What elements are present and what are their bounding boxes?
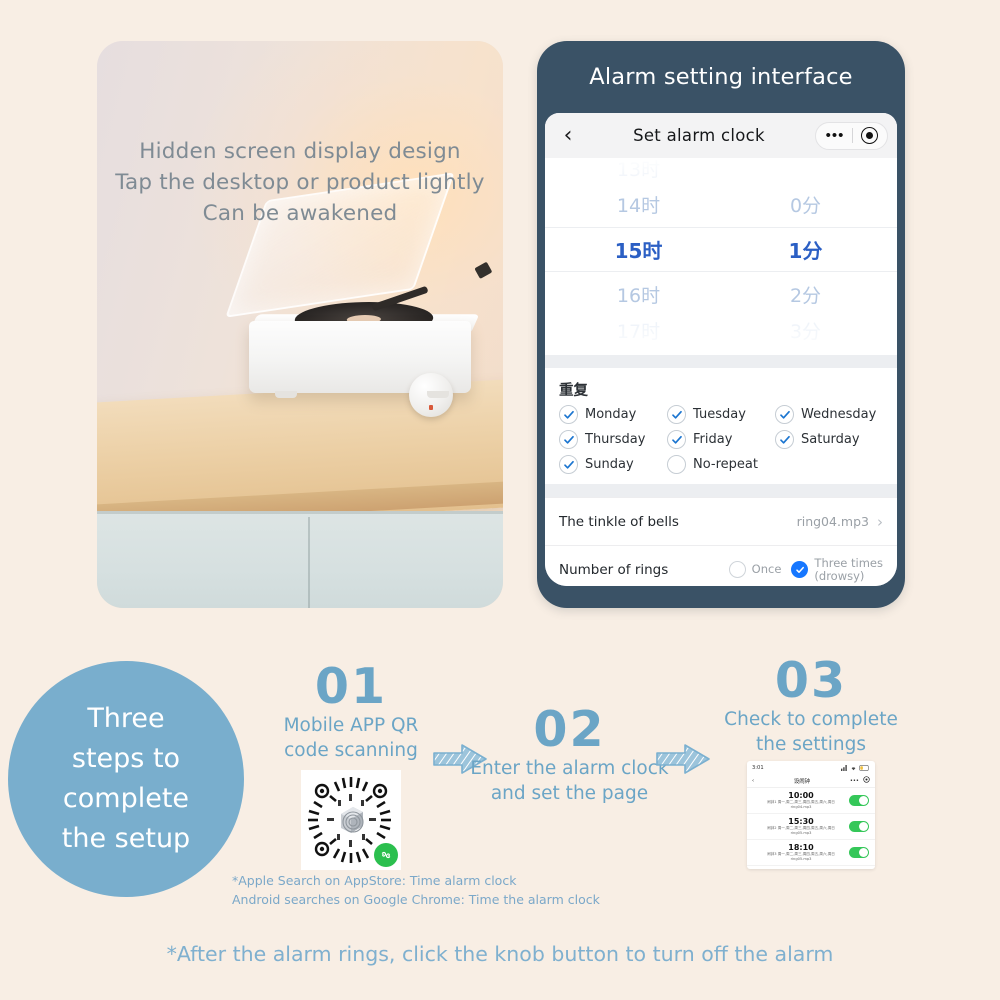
picker-row[interactable]: 14时 0分 bbox=[545, 182, 897, 227]
picker-selection-line-top bbox=[545, 227, 897, 228]
step-03-text: Check to complete the settings bbox=[700, 707, 922, 757]
picker-minute: 3分 bbox=[722, 317, 897, 344]
repeat-day-label: Saturday bbox=[801, 432, 860, 447]
picker-hour: 13时 bbox=[545, 158, 722, 182]
phone-mockup: Alarm setting interface ‹ Set alarm cloc… bbox=[537, 41, 905, 608]
mini-alarm-toggle[interactable] bbox=[849, 795, 869, 806]
repeat-title: 重复 bbox=[559, 379, 883, 400]
step-03-line-1: Check to complete bbox=[700, 707, 922, 732]
repeat-day-label: Thursday bbox=[585, 432, 645, 447]
step-02-number: 02 bbox=[462, 706, 677, 754]
qr-code[interactable] bbox=[301, 770, 401, 870]
turntable-foot-right bbox=[427, 391, 449, 398]
repeat-day-sunday[interactable]: Sunday bbox=[559, 455, 667, 474]
mini-alarm-row[interactable]: 10:00 闹钟1 周一,周二,周三,周四,周五,周六,周日 ring04.mp… bbox=[747, 788, 875, 814]
repeat-day-label: Friday bbox=[693, 432, 732, 447]
rings-option-once[interactable]: Once bbox=[729, 561, 782, 578]
checkbox-checked-icon[interactable] bbox=[667, 405, 686, 424]
radio-checked-icon[interactable] bbox=[791, 561, 808, 578]
note-line-android: Android searches on Google Chrome: Time … bbox=[232, 890, 792, 909]
wifi-icon bbox=[850, 765, 857, 771]
rings-option-label: Once bbox=[752, 563, 782, 576]
photo-caption-line-1: Hidden screen display design bbox=[97, 136, 503, 167]
wechat-miniprogram-icon bbox=[374, 843, 398, 867]
mini-more-icon[interactable]: ••• bbox=[850, 778, 859, 784]
repeat-day-thursday[interactable]: Thursday bbox=[559, 430, 667, 449]
circle-line-2: steps to bbox=[62, 739, 190, 779]
checkbox-checked-icon[interactable] bbox=[559, 430, 578, 449]
picker-hour: 16时 bbox=[545, 281, 722, 308]
battery-icon bbox=[859, 765, 870, 771]
repeat-day-no-repeat[interactable]: No-repeat bbox=[667, 455, 775, 474]
repeat-day-label: Tuesday bbox=[693, 407, 746, 422]
phone-screen: ‹ Set alarm clock ••• 13时 14时 bbox=[545, 113, 897, 586]
step-01-text: Mobile APP QR code scanning bbox=[246, 713, 456, 763]
mini-alarm-time: 18:10 bbox=[753, 843, 849, 852]
store-search-notes: *Apple Search on AppStore: Time alarm cl… bbox=[232, 871, 792, 909]
picker-row[interactable]: 13时 bbox=[545, 158, 897, 182]
mini-phone-screenshot: 3:01 ‹ 设闹钟 ••• 10:00 闹钟1 周一,周二,周三,周四,周 bbox=[747, 761, 875, 869]
checkbox-checked-icon[interactable] bbox=[775, 405, 794, 424]
mini-status-icons bbox=[841, 765, 870, 771]
number-of-rings-label: Number of rings bbox=[559, 562, 729, 578]
three-steps-circle-text: Three steps to complete the setup bbox=[62, 699, 190, 859]
repeat-day-wednesday[interactable]: Wednesday bbox=[775, 405, 883, 424]
section-divider bbox=[545, 484, 897, 497]
picker-row[interactable]: 17时 3分 bbox=[545, 317, 897, 339]
knob-indicator-dot bbox=[429, 405, 433, 410]
checkbox-checked-icon[interactable] bbox=[559, 405, 578, 424]
mini-alarm-row[interactable]: 18:10 闹钟3 周一,周二,周三,周四,周五,周六,周日 ring05.mp… bbox=[747, 840, 875, 866]
repeat-section: 重复 Monday Tuesday bbox=[545, 368, 897, 484]
mini-alarm-sub2: ring05.mp3 bbox=[753, 857, 849, 862]
rings-option-sublabel: (drowsy) bbox=[814, 569, 864, 583]
circle-line-3: complete bbox=[62, 779, 190, 819]
ringtone-label: The tinkle of bells bbox=[559, 514, 797, 530]
product-photo-card: Hidden screen display design Tap the des… bbox=[97, 41, 503, 608]
footer-note: *After the alarm rings, click the knob b… bbox=[0, 942, 1000, 966]
more-icon[interactable]: ••• bbox=[818, 127, 852, 144]
mini-alarm-row[interactable]: 15:30 闹钟2 周一,周二,周三,周四,周五,周六,周日 ring05.mp… bbox=[747, 814, 875, 840]
picker-hour-selected: 15时 bbox=[545, 235, 722, 264]
checkbox-checked-icon[interactable] bbox=[775, 430, 794, 449]
turntable-body bbox=[249, 321, 471, 393]
mini-alarm-info: 15:30 闹钟2 周一,周二,周三,周四,周五,周六,周日 ring05.mp… bbox=[753, 817, 849, 836]
page-root: Hidden screen display design Tap the des… bbox=[0, 0, 1000, 1000]
mini-alarm-time: 10:00 bbox=[753, 791, 849, 800]
time-picker[interactable]: 13时 14时 0分 15时 1分 16时 2分 bbox=[545, 158, 897, 355]
mini-alarm-info: 18:10 闹钟3 周一,周二,周三,周四,周五,周六,周日 ring05.mp… bbox=[753, 843, 849, 862]
signal-icon bbox=[841, 765, 848, 771]
step-01-number: 01 bbox=[246, 663, 456, 711]
repeat-day-tuesday[interactable]: Tuesday bbox=[667, 405, 775, 424]
repeat-day-saturday[interactable]: Saturday bbox=[775, 430, 883, 449]
mini-target-icon[interactable] bbox=[863, 776, 870, 785]
picker-row-selected[interactable]: 15时 1分 bbox=[545, 227, 897, 272]
mini-alarm-info: 10:00 闹钟1 周一,周二,周三,周四,周五,周六,周日 ring04.mp… bbox=[753, 791, 849, 810]
mini-alarm-sub2: ring04.mp3 bbox=[753, 805, 849, 810]
note-line-apple: *Apple Search on AppStore: Time alarm cl… bbox=[232, 871, 792, 890]
target-icon[interactable] bbox=[853, 127, 885, 144]
step-01-line-1: Mobile APP QR bbox=[246, 713, 456, 738]
step-01: 01 Mobile APP QR code scanning bbox=[246, 663, 456, 870]
mini-alarm-toggle[interactable] bbox=[849, 821, 869, 832]
mini-navbar: ‹ 设闹钟 ••• bbox=[747, 774, 875, 788]
rings-option-label-wrap: Three times (drowsy) bbox=[814, 557, 883, 583]
photo-caption: Hidden screen display design Tap the des… bbox=[97, 136, 503, 229]
repeat-day-friday[interactable]: Friday bbox=[667, 430, 775, 449]
step-02-line-2: and set the page bbox=[462, 781, 677, 806]
turntable-product bbox=[249, 291, 479, 441]
app-navbar: ‹ Set alarm clock ••• bbox=[545, 113, 897, 158]
step-03: 03 Check to complete the settings 3:01 ‹… bbox=[700, 657, 922, 869]
picker-minute: 0分 bbox=[722, 191, 897, 218]
navbar-capsule: ••• bbox=[815, 122, 888, 150]
number-of-rings-options: Once Three times (drowsy) bbox=[729, 557, 883, 583]
repeat-day-grid: Monday Tuesday Wednesday bbox=[559, 405, 883, 474]
rings-option-three-times[interactable]: Three times (drowsy) bbox=[791, 557, 883, 583]
step-03-number: 03 bbox=[700, 657, 922, 705]
repeat-day-label: Monday bbox=[585, 407, 636, 422]
step-02-line-1: Enter the alarm clock bbox=[462, 756, 677, 781]
step-02-text: Enter the alarm clock and set the page bbox=[462, 756, 677, 806]
picker-selection-line-bottom bbox=[545, 271, 897, 272]
mini-alarm-toggle[interactable] bbox=[849, 847, 869, 858]
turntable-foot-left bbox=[275, 391, 297, 398]
step-03-line-2: the settings bbox=[700, 732, 922, 757]
mini-alarm-time: 15:30 bbox=[753, 817, 849, 826]
number-of-rings-row[interactable]: Number of rings Once Three times (drowsy… bbox=[545, 545, 897, 586]
circle-line-4: the setup bbox=[62, 819, 190, 859]
photo-caption-line-3: Can be awakened bbox=[97, 198, 503, 229]
radio-unchecked-icon[interactable] bbox=[729, 561, 746, 578]
repeat-day-label: Wednesday bbox=[801, 407, 876, 422]
checkbox-checked-icon[interactable] bbox=[667, 430, 686, 449]
picker-row[interactable]: 16时 2分 bbox=[545, 272, 897, 317]
step-01-line-2: code scanning bbox=[246, 738, 456, 763]
step-02: 02 Enter the alarm clock and set the pag… bbox=[462, 706, 677, 806]
ringtone-value: ring04.mp3 bbox=[797, 514, 869, 529]
rings-option-label: Three times bbox=[814, 556, 883, 570]
photo-caption-line-2: Tap the desktop or product lightly bbox=[97, 167, 503, 198]
ringtone-row[interactable]: The tinkle of bells ring04.mp3 › bbox=[545, 497, 897, 545]
picker-minute: 2分 bbox=[722, 281, 897, 308]
three-steps-circle: Three steps to complete the setup bbox=[8, 661, 244, 897]
circle-line-1: Three bbox=[62, 699, 190, 739]
mini-status-bar: 3:01 bbox=[747, 761, 875, 774]
repeat-day-monday[interactable]: Monday bbox=[559, 405, 667, 424]
checkbox-checked-icon[interactable] bbox=[559, 455, 578, 474]
repeat-day-label: No-repeat bbox=[693, 457, 758, 472]
mini-nav-title: 设闹钟 bbox=[754, 777, 850, 785]
picker-hour: 17时 bbox=[545, 317, 722, 344]
picker-minute-selected: 1分 bbox=[722, 235, 897, 264]
picker-hour: 14时 bbox=[545, 191, 722, 218]
photo-cabinet bbox=[97, 511, 503, 608]
mini-status-time: 3:01 bbox=[752, 765, 764, 771]
chevron-right-icon[interactable]: › bbox=[877, 513, 883, 531]
section-divider bbox=[545, 355, 897, 368]
checkbox-unchecked-icon[interactable] bbox=[667, 455, 686, 474]
mini-alarm-sub2: ring05.mp3 bbox=[753, 831, 849, 836]
repeat-day-label: Sunday bbox=[585, 457, 634, 472]
phone-banner-title: Alarm setting interface bbox=[537, 41, 905, 113]
navbar-title: Set alarm clock bbox=[583, 126, 815, 145]
